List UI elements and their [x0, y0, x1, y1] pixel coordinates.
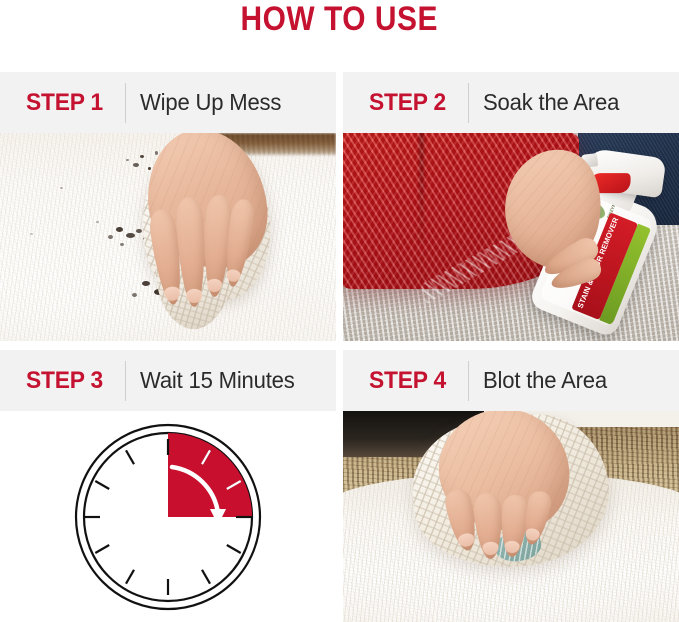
step-header-divider [125, 361, 126, 401]
step-photo-2: NATURE'S MIRACLE ENZYMATIC FORMULA STAIN… [343, 133, 679, 341]
step-header-4: STEP 4 Blot the Area [343, 350, 679, 411]
column-gutter [336, 72, 343, 341]
step-number-3: STEP 3 [26, 367, 103, 395]
clock-icon [68, 417, 268, 617]
step-header-divider [468, 83, 469, 123]
column-gutter [336, 350, 343, 622]
step-header-divider [468, 361, 469, 401]
step-panel-1: STEP 1 Wipe Up Mess [0, 72, 336, 341]
step-panel-3: STEP 3 Wait 15 Minutes [0, 350, 336, 622]
page-title: HOW TO USE [241, 2, 439, 38]
step-number-1: STEP 1 [26, 89, 103, 117]
step-header-2: STEP 2 Soak the Area [343, 72, 679, 133]
step-label-3: Wait 15 Minutes [140, 367, 295, 394]
step-label-1: Wipe Up Mess [140, 89, 281, 116]
step-photo-1 [0, 133, 336, 341]
steps-grid: STEP 1 Wipe Up Mess [0, 72, 679, 622]
step-number-2: STEP 2 [369, 89, 446, 117]
how-to-use-infographic: HOW TO USE STEP 1 Wipe Up Mess [0, 0, 679, 622]
step-panel-4: STEP 4 Blot the Area [343, 350, 679, 622]
step-label-2: Soak the Area [483, 89, 619, 116]
row-gutter [0, 341, 679, 350]
step-number-4: STEP 4 [369, 367, 446, 395]
step-header-divider [125, 83, 126, 123]
step-header-3: STEP 3 Wait 15 Minutes [0, 350, 336, 411]
step-label-4: Blot the Area [483, 367, 607, 394]
step-header-1: STEP 1 Wipe Up Mess [0, 72, 336, 133]
step-graphic-3 [0, 411, 336, 622]
step-panel-2: STEP 2 Soak the Area [343, 72, 679, 341]
page-title-bar: HOW TO USE [0, 0, 679, 72]
step-photo-4 [343, 411, 679, 622]
blanket-fold [419, 133, 424, 243]
clock-highlight-wedge [168, 433, 252, 517]
